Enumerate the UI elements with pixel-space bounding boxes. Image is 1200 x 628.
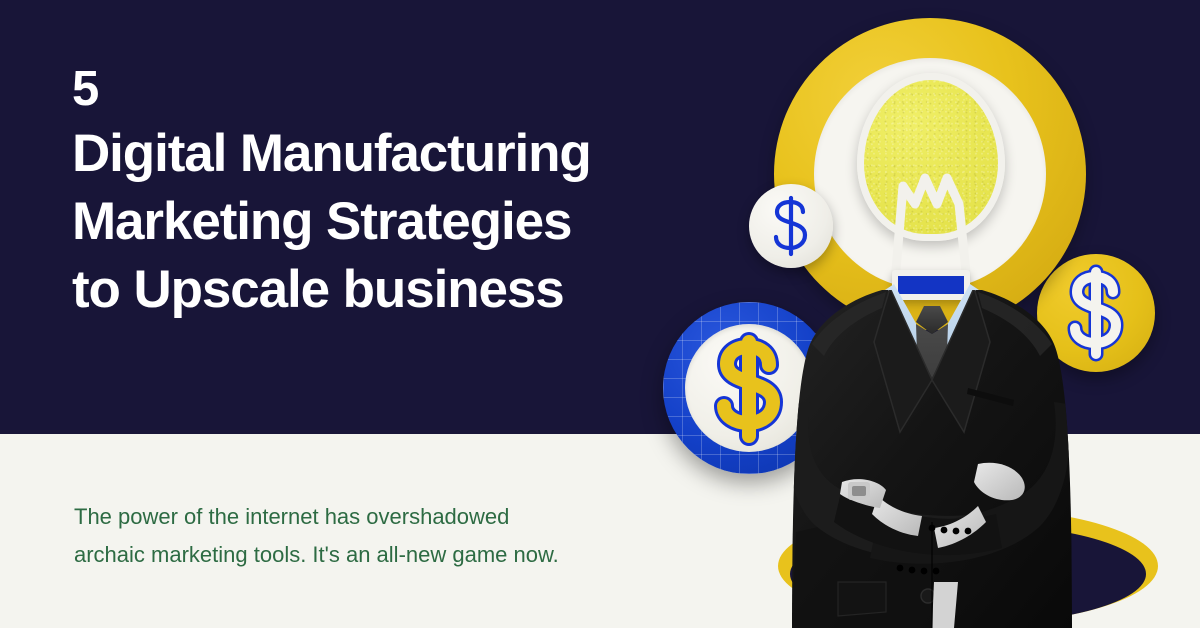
dollar-sign-icon [749, 184, 833, 268]
headline-line-1: Digital Manufacturing [72, 124, 591, 183]
page-title: Digital Manufacturing Marketing Strategi… [72, 120, 712, 324]
subtitle-block: The power of the internet has overshadow… [74, 498, 674, 574]
subtitle-line-1: The power of the internet has overshadow… [74, 498, 674, 536]
coin-small-white [749, 184, 833, 268]
marketing-banner: 5 Digital Manufacturing Marketing Strate… [0, 0, 1200, 628]
bulb-filament-icon [881, 156, 981, 282]
businessman-torso [782, 282, 1082, 628]
subtitle-line-2: archaic marketing tools. It's an all-new… [74, 536, 674, 574]
headline-line-2: Marketing Strategies [72, 192, 571, 251]
headline-block: 5 Digital Manufacturing Marketing Strate… [72, 62, 712, 324]
kicker-number: 5 [72, 62, 712, 116]
headline-line-3: to Upscale business [72, 260, 564, 319]
